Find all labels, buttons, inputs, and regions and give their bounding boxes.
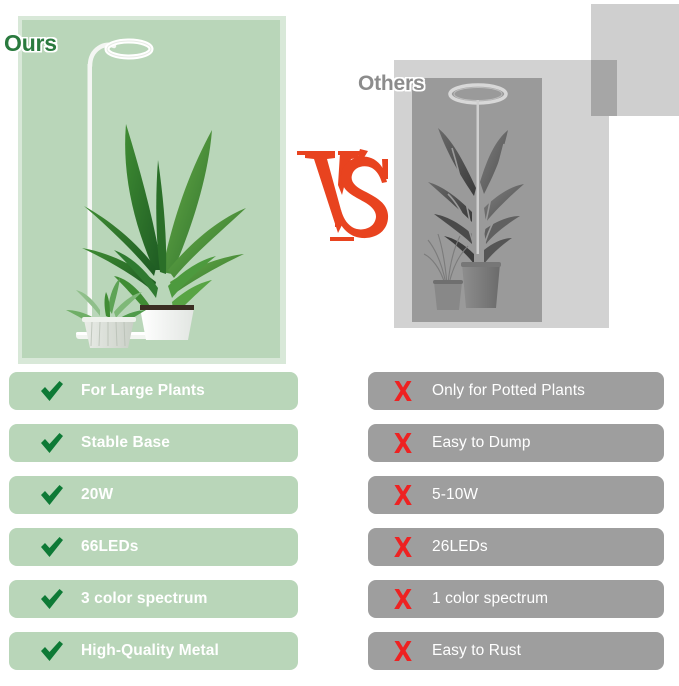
feature-row: 1 color spectrum (368, 580, 664, 618)
ours-label: Ours (4, 30, 57, 57)
feature-label: 3 color spectrum (81, 590, 208, 608)
feature-row: Only for Potted Plants (368, 372, 664, 410)
cross-icon (388, 640, 418, 662)
feature-row: High-Quality Metal (9, 632, 298, 670)
feature-comparison: For Large Plants Stable Base 20W 66LEDs … (0, 372, 679, 686)
check-icon (37, 380, 67, 402)
ours-feature-list: For Large Plants Stable Base 20W 66LEDs … (9, 372, 298, 684)
cross-icon (388, 432, 418, 454)
feature-row: 20W (9, 476, 298, 514)
feature-row: Easy to Dump (368, 424, 664, 462)
others-feature-list: Only for Potted Plants Easy to Dump 5-10… (368, 372, 664, 684)
check-icon (37, 640, 67, 662)
feature-label: 5-10W (432, 486, 478, 504)
feature-row: For Large Plants (9, 372, 298, 410)
feature-row: 26LEDs (368, 528, 664, 566)
ours-product-image (22, 20, 280, 358)
feature-label: Easy to Rust (432, 642, 521, 660)
cross-icon (388, 588, 418, 610)
others-product-illustration (412, 78, 542, 322)
feature-label: For Large Plants (81, 382, 205, 400)
vs-badge (294, 145, 390, 247)
feature-label: Only for Potted Plants (432, 382, 585, 400)
check-icon (37, 484, 67, 506)
feature-label: Stable Base (81, 434, 170, 452)
others-product-image (412, 78, 542, 322)
comparison-hero: Ours (0, 0, 679, 372)
feature-row: Easy to Rust (368, 632, 664, 670)
check-icon (37, 588, 67, 610)
cross-icon (388, 484, 418, 506)
feature-row: 5-10W (368, 476, 664, 514)
feature-label: 66LEDs (81, 538, 138, 556)
feature-label: Easy to Dump (432, 434, 531, 452)
others-accent-panel-dark (591, 60, 617, 116)
feature-label: High-Quality Metal (81, 642, 219, 660)
check-icon (37, 536, 67, 558)
feature-row: 3 color spectrum (9, 580, 298, 618)
cross-icon (388, 536, 418, 558)
ours-product-illustration (22, 20, 280, 358)
feature-label: 20W (81, 486, 113, 504)
vs-icon (294, 145, 390, 247)
feature-row: 66LEDs (9, 528, 298, 566)
check-icon (37, 432, 67, 454)
feature-label: 26LEDs (432, 538, 488, 556)
cross-icon (388, 380, 418, 402)
feature-label: 1 color spectrum (432, 590, 548, 608)
feature-row: Stable Base (9, 424, 298, 462)
others-label: Others (358, 72, 425, 96)
